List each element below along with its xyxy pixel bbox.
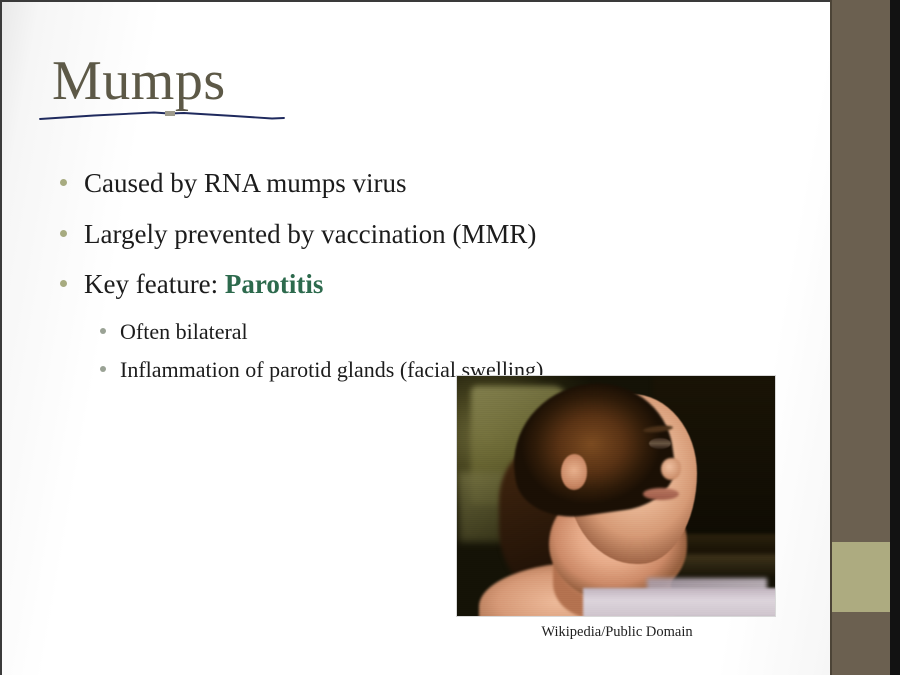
sub-bullet-text: Often bilateral [120,314,248,350]
slide-left-border [0,0,2,675]
bullet-text: Key feature: Parotitis [84,263,323,306]
title-underline-decoration [34,100,294,126]
presentation-slide: Mumps Caused by RNA mumps virus Largely … [0,0,900,675]
bullet-text: Caused by RNA mumps virus [84,162,407,205]
bullet-text-prefix: Key feature: [84,269,225,299]
photo-grain-overlay [457,376,775,616]
sidebar-khaki-accent-block [832,542,890,612]
clinical-photo-parotitis [457,376,775,616]
highlighted-term-parotitis: Parotitis [225,269,323,299]
sub-bullet-dot-icon [100,366,106,372]
slide-bullet-list: Caused by RNA mumps virus Largely preven… [60,162,760,389]
slide-decorative-sidebar [830,0,900,675]
bullet-text: Largely prevented by vaccination (MMR) [84,213,536,256]
sidebar-right-dark-edge [890,0,900,675]
sub-bullet-item-1: Often bilateral [100,314,760,350]
sub-bullet-dot-icon [100,328,106,334]
slide-top-border [0,0,900,2]
photo-credit-caption: Wikipedia/Public Domain [457,624,777,641]
bullet-dot-icon [60,230,67,237]
bullet-dot-icon [60,179,67,186]
bullet-dot-icon [60,280,67,287]
bullet-item-3: Key feature: Parotitis [60,263,760,306]
bullet-item-1: Caused by RNA mumps virus [60,162,760,205]
bullet-item-2: Largely prevented by vaccination (MMR) [60,213,760,256]
